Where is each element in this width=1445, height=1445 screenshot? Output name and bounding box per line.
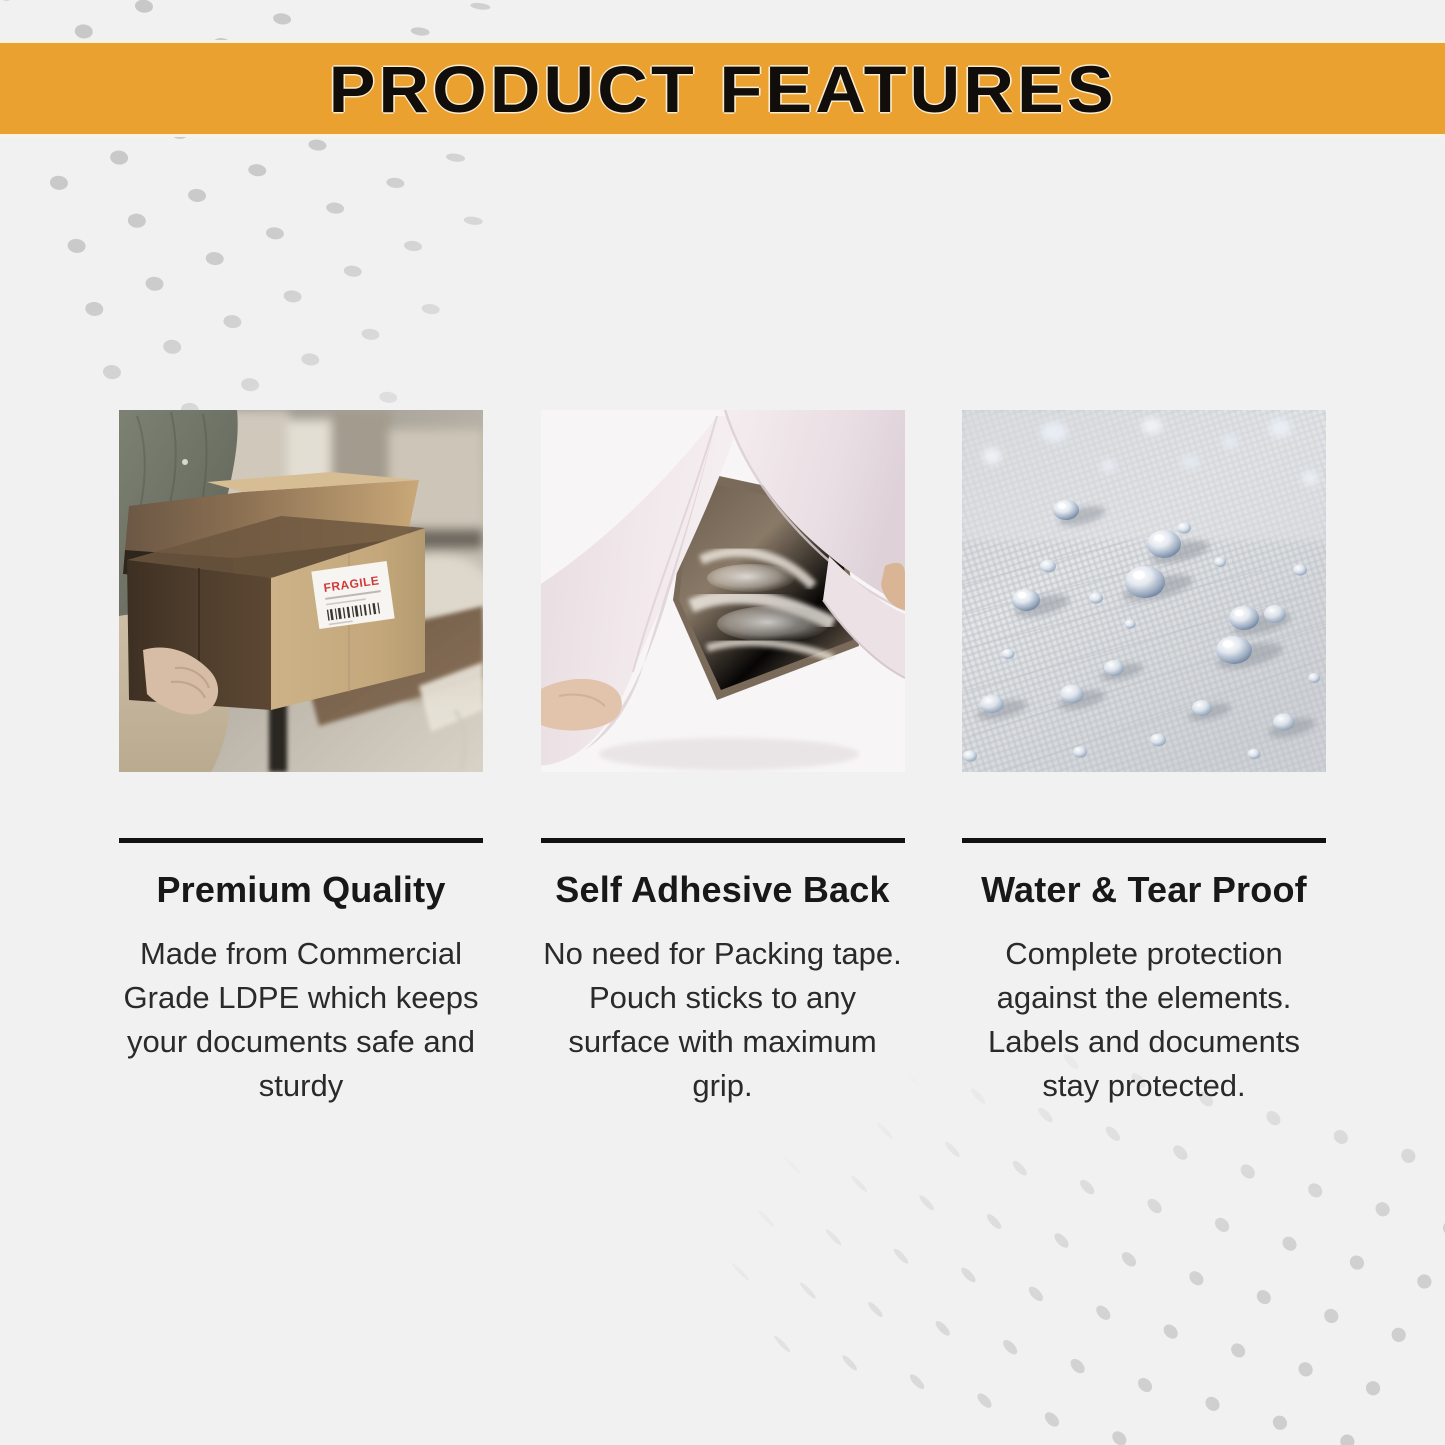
- feature-description: Complete protection against the elements…: [958, 932, 1330, 1108]
- feature-title: Self Adhesive Back: [555, 870, 889, 910]
- feature-divider: [541, 838, 905, 843]
- packing-boxes-photo: FRAGILE: [119, 410, 483, 772]
- feature-description: Made from Commercial Grade LDPE which ke…: [115, 932, 487, 1108]
- header-banner: PRODUCT FEATURES: [0, 40, 1445, 137]
- feature-grid: FRAGILE: [119, 410, 1326, 1108]
- feature-title: Premium Quality: [156, 870, 445, 910]
- feature-description: No need for Packing tape. Pouch sticks t…: [537, 932, 909, 1108]
- infographic-page: PRODUCT FEATURES: [0, 0, 1445, 1445]
- water-droplets-fabric-photo: [962, 410, 1326, 772]
- peeling-adhesive-liner-photo: [541, 410, 905, 772]
- feature-card-water-tear-proof: Water & Tear Proof Complete protection a…: [962, 410, 1326, 1108]
- feature-divider: [962, 838, 1326, 843]
- feature-card-premium-quality: FRAGILE: [119, 410, 483, 1108]
- feature-card-self-adhesive-back: Self Adhesive Back No need for Packing t…: [541, 410, 905, 1108]
- feature-divider: [119, 838, 483, 843]
- page-title: PRODUCT FEATURES: [328, 56, 1116, 122]
- feature-title: Water & Tear Proof: [981, 870, 1307, 910]
